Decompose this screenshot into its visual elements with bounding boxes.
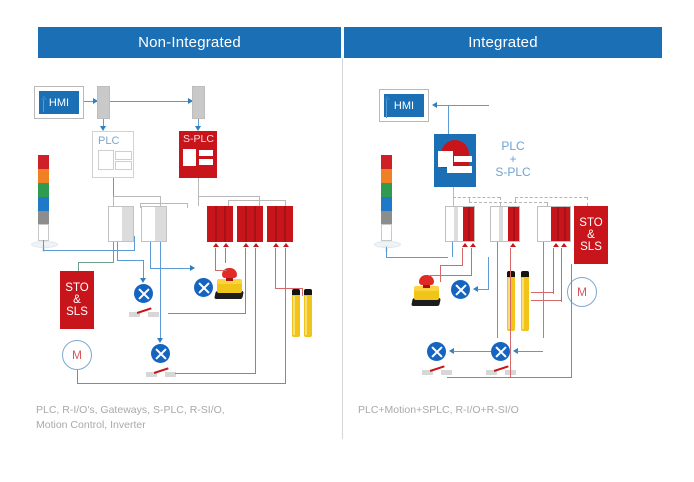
emergency-stop-right[interactable] <box>412 272 442 306</box>
wire-hybrid3-blue <box>543 242 544 338</box>
wire-lc-right-red-1 <box>531 292 553 293</box>
estop-right-mushroom-cap <box>419 275 434 285</box>
wire-stack-right-riser <box>386 247 387 258</box>
bus-safety-top-1 <box>198 196 260 197</box>
stack-segment-blue <box>38 197 49 211</box>
stack-right-segment-orange <box>381 169 392 183</box>
wire-controller-hmi-h <box>437 105 489 106</box>
bus-safety-drop-1 <box>198 196 199 206</box>
wire-stack-right-v <box>386 100 387 118</box>
wire-estop-right-red-v1 <box>462 248 463 266</box>
io-module-standard-2-slot <box>155 207 166 241</box>
splc-left[interactable]: S-PLC <box>179 131 217 178</box>
io-module-hybrid-3[interactable] <box>537 206 571 242</box>
arrow-valve-1 <box>140 278 146 283</box>
wire-estop-red-2 <box>225 248 226 263</box>
wire-estop-red-1 <box>215 248 216 270</box>
limit-switch-2 <box>146 367 176 379</box>
wire-stack-riser <box>43 240 44 251</box>
panel-header-integrated: Integrated <box>344 27 662 58</box>
stack-right-segment-green <box>381 183 392 197</box>
io-module-safety-2-slot-b <box>254 206 256 242</box>
io-module-standard-1-slot <box>122 207 133 241</box>
io-module-hybrid-2-divider <box>513 207 515 241</box>
wire-estop-right-red-h1 <box>440 265 462 266</box>
arrow-valve-2 <box>190 265 195 271</box>
valve-right-3[interactable] <box>491 342 510 361</box>
light-curtain-2[interactable] <box>304 289 312 337</box>
controller-slot-3 <box>447 166 472 173</box>
wire-valve-right-1-v <box>488 257 489 290</box>
arrow-valve-3 <box>157 338 163 343</box>
wire-valve1-drop <box>143 260 144 280</box>
hmi-right-label: HMI <box>384 94 424 117</box>
arrow-safety-io1-b <box>223 243 229 247</box>
stack-base-tube <box>38 224 49 241</box>
io-module-hybrid-2-slot <box>499 207 503 241</box>
stack-segment-orange <box>38 169 49 183</box>
wire-right-bottom-red-v2 <box>571 264 572 378</box>
dashed-bus-1 <box>453 197 500 198</box>
light-curtain-right-2-lens <box>522 278 524 329</box>
limit-switch-right-1 <box>422 365 452 377</box>
plc-cpu-slot <box>98 150 114 170</box>
io-module-hybrid-1-slot <box>454 207 458 241</box>
wire-plc-sto-h <box>78 262 114 263</box>
wire-estop-right-red-h2 <box>430 275 471 276</box>
wire-motor-red-h <box>77 383 285 384</box>
valve-right-1[interactable] <box>451 280 470 299</box>
sto-line-2: & <box>73 294 81 306</box>
limit-switch-right-1-pad-b <box>441 370 452 375</box>
wire-estop-right-red-v2 <box>471 248 472 276</box>
light-curtain-1-lens <box>293 296 295 335</box>
sto-right-line-2: & <box>587 229 595 241</box>
io-module-safety-1-slot-b <box>224 206 226 242</box>
stack-right-segment-blue <box>381 197 392 211</box>
arrow-hybrid3-a <box>553 243 559 247</box>
arrow-hybrid2-a <box>510 243 516 247</box>
sto-sls-right[interactable]: STO & SLS <box>574 206 608 264</box>
diagram-canvas: Non-Integrated Integrated HMI PLC <box>0 0 694 482</box>
wire-splc-bus <box>198 178 199 196</box>
sto-right-line-3: SLS <box>580 241 602 253</box>
io-module-hybrid-1-divider <box>468 207 470 241</box>
plc-left[interactable]: PLC <box>92 131 134 178</box>
caption-integrated: PLC+Motion+SPLC, R-I/O+R-SI/O <box>358 403 658 418</box>
valve-right-2[interactable] <box>427 342 446 361</box>
io-module-hybrid-3-divider-b <box>564 207 566 241</box>
arrow-hybrid3-b <box>561 243 567 247</box>
splc-module-2 <box>199 159 213 165</box>
stack-right-segment-red <box>381 155 392 169</box>
io-module-safety-3-slot-a <box>275 206 277 242</box>
controller-slot-1 <box>438 151 453 167</box>
wire-right-bottom-red-1 <box>447 377 510 378</box>
bus-io-std-drop-4 <box>187 203 188 208</box>
hmi-left[interactable]: HMI <box>34 86 84 119</box>
arrow-safety-io3-a <box>273 243 279 247</box>
light-curtain-2-lens <box>305 296 307 335</box>
wire-estop-right-red-1 <box>440 265 441 282</box>
io-module-safety-2-slot-a <box>245 206 247 242</box>
wire-hybrid2-blue <box>497 242 498 338</box>
io-module-safety-2[interactable] <box>237 206 263 242</box>
gateway-2[interactable] <box>192 86 205 119</box>
wire-gateway1-gateway2 <box>110 101 192 102</box>
sto-line-3: SLS <box>66 306 88 318</box>
splc-module-1 <box>199 150 213 156</box>
stack-right-base-tube <box>381 224 392 241</box>
bus-io-std-top-2 <box>140 203 188 204</box>
plc-module-2 <box>115 161 132 170</box>
wire-ls1-red-v <box>245 248 246 314</box>
light-curtain-right-2-head <box>521 271 529 277</box>
wire-io1-h <box>117 260 143 261</box>
controller-label: PLC + S-PLC <box>482 140 544 179</box>
wire-io1-down <box>117 242 118 260</box>
plc-module-1 <box>115 151 132 160</box>
stack-right-segment-grey <box>381 211 392 224</box>
controller-label-line-3: S-PLC <box>482 166 544 179</box>
dashed-bus-2 <box>469 202 547 203</box>
wire-motor-red-v <box>285 248 286 384</box>
wire-io-down-1 <box>134 236 135 251</box>
wire-right-bottom-red-v1 <box>510 248 511 378</box>
wire-ls1-red-h <box>168 313 245 314</box>
stack-segment-grey <box>38 211 49 224</box>
light-curtain-right-2[interactable] <box>521 271 529 331</box>
light-curtain-1[interactable] <box>292 289 300 337</box>
io-module-standard-1[interactable] <box>108 206 134 242</box>
splc-left-label: S-PLC <box>183 133 214 145</box>
bus-safety-top-2 <box>228 200 286 201</box>
arrow-hybrid1-b <box>470 243 476 247</box>
panel-header-non-integrated: Non-Integrated <box>38 27 341 58</box>
wire-lc-red-drop <box>302 288 303 296</box>
valve-2[interactable] <box>194 278 213 297</box>
plc-left-label: PLC <box>98 135 119 147</box>
limit-switch-1 <box>129 307 159 319</box>
limit-switch-right-2 <box>486 365 516 377</box>
light-curtain-2-head <box>304 289 312 295</box>
arrow-safety-io3-b <box>283 243 289 247</box>
arrow-safety-io1-a <box>213 243 219 247</box>
sto-line-1: STO <box>65 282 88 294</box>
wire-stack-horizontal <box>43 250 135 251</box>
splc-cpu-slot <box>183 149 196 166</box>
io-module-safety-1-slot-a <box>215 206 217 242</box>
bus-io-std-top <box>113 196 161 197</box>
dashed-bus-3 <box>515 197 587 198</box>
io-module-hybrid-2[interactable] <box>490 206 520 242</box>
wire-lc-right-red-v2 <box>561 248 562 302</box>
stack-segment-red <box>38 155 49 169</box>
motor-left[interactable]: M <box>62 340 92 370</box>
wire-stack-right-h <box>386 257 448 258</box>
stack-segment-green <box>38 183 49 197</box>
arrow-safety-io2-a <box>243 243 249 247</box>
wire-hybrid1-blue <box>452 242 453 257</box>
panel-divider <box>342 58 343 439</box>
wire-controller-hmi-v <box>448 105 449 134</box>
dashed-bus-drop-5 <box>469 197 470 202</box>
caption-non-integrated: PLC, R-I/O's, Gateways, S-PLC, R-SI/O, M… <box>36 403 326 433</box>
io-module-standard-2[interactable] <box>141 206 167 242</box>
wire-ls2-red-v <box>255 248 256 374</box>
io-module-hybrid-1[interactable] <box>445 206 475 242</box>
io-module-hybrid-3-divider-a <box>557 207 559 241</box>
io-module-safety-1[interactable] <box>207 206 233 242</box>
wire-io2-down <box>150 242 151 268</box>
wire-estop-red-h <box>215 270 227 271</box>
valve-1[interactable] <box>134 284 153 303</box>
limit-switch-1-pad-b <box>148 312 159 317</box>
wire-right-bottom-red-2 <box>511 377 572 378</box>
arrow-safety-io2-b <box>253 243 259 247</box>
dashed-bus-drop-4 <box>515 197 516 202</box>
arrow-hybrid1-a <box>462 243 468 247</box>
io-module-hybrid-3-safety <box>551 207 570 241</box>
sto-right-line-1: STO <box>579 217 602 229</box>
wire-lc-red-v <box>275 248 276 288</box>
wire-motor-red-riser <box>77 370 78 384</box>
wire-ls2-red-h <box>175 373 255 374</box>
light-curtain-1-head <box>292 289 300 295</box>
wire-io2-long <box>160 242 161 340</box>
wire-lc-right-red-v1 <box>553 248 554 294</box>
controller-slot-2 <box>454 156 472 162</box>
wire-io2-h <box>150 268 194 269</box>
plc-splc-controller[interactable] <box>434 134 476 187</box>
valve-3[interactable] <box>151 344 170 363</box>
dashed-bus-drop-3 <box>587 197 588 206</box>
wire-lc-right-red-2 <box>531 300 561 301</box>
sto-sls-left[interactable]: STO & SLS <box>60 271 94 329</box>
wire-stack-vertical <box>43 100 44 112</box>
gateway-1[interactable] <box>97 86 110 119</box>
io-module-safety-3[interactable] <box>267 206 293 242</box>
io-module-safety-3-slot-b <box>284 206 286 242</box>
wire-valve-right-3-h <box>517 351 543 352</box>
